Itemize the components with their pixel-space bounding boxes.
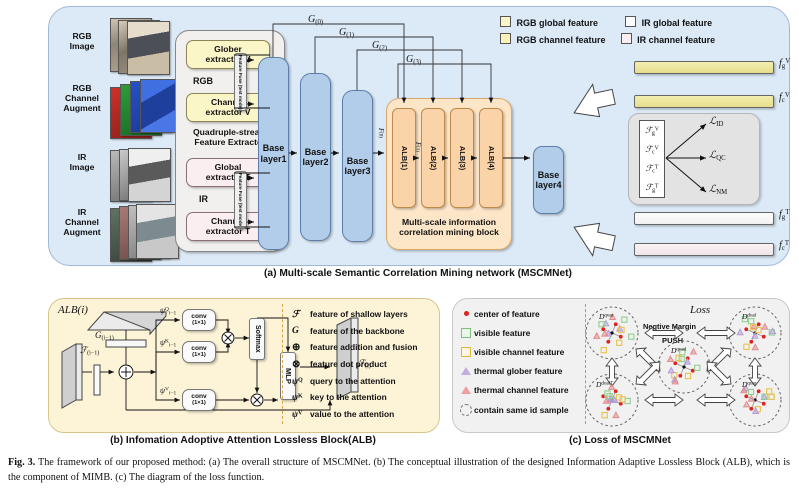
cluster-label-2: Ddual — [742, 312, 756, 321]
cluster-label-1: Dquar — [599, 312, 613, 321]
cluster-label-5: Dquar — [742, 380, 756, 389]
figure-caption-text: The framework of our proposed method: (a… — [8, 457, 790, 483]
panel-c-clusters — [0, 0, 798, 493]
figure-caption: Fig. 3. The framework of our proposed me… — [8, 456, 790, 486]
cluster-label-4: DdualT — [596, 380, 613, 389]
cluster-label-3: Dquad — [671, 346, 686, 355]
panel-c-caption: (c) Loss of MSCMNet — [452, 435, 788, 446]
figure-caption-label: Fig. 3. — [8, 457, 35, 468]
